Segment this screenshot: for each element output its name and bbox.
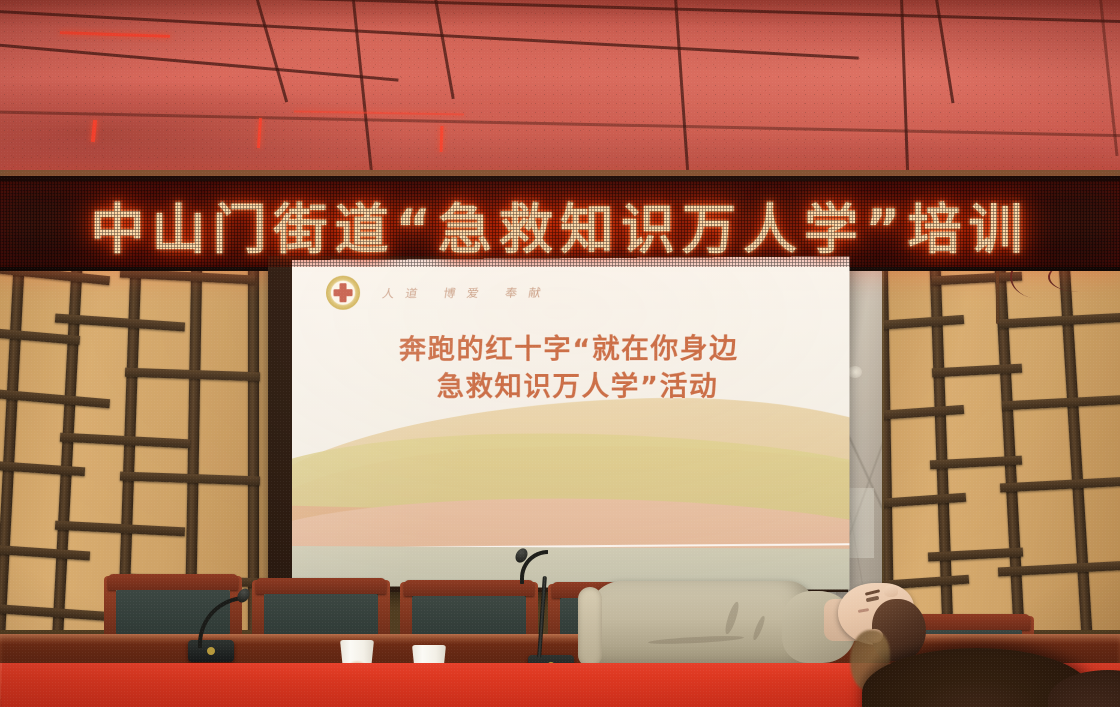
screen-glare — [292, 256, 849, 589]
ceiling — [0, 0, 1120, 190]
pilaster-highlight — [848, 366, 862, 378]
projection-screen: 人道 博爱 奉献 奔跑的红十字“就在你身边 急救知识万人学”活动 — [292, 256, 849, 589]
led-banner-text: 中山门街道“急救知识万人学”培训 — [0, 181, 1120, 267]
manikin-nose — [884, 585, 898, 597]
cable-drop — [996, 262, 999, 324]
manikin-sleeve-cuff — [578, 587, 602, 667]
photo-scene: 中山门街道“急救知识万人学”培训 人道 博爱 奉献 奔跑的红十字“就在你身边 急… — [0, 0, 1120, 707]
manikin-torso — [588, 581, 814, 673]
led-scrolling-banner: 中山门街道“急救知识万人学”培训 — [0, 176, 1120, 271]
table-reflection — [0, 634, 1120, 644]
projection-screen-frame: 人道 博爱 奉献 奔跑的红十字“就在你身边 急救知识万人学”活动 — [268, 256, 848, 592]
